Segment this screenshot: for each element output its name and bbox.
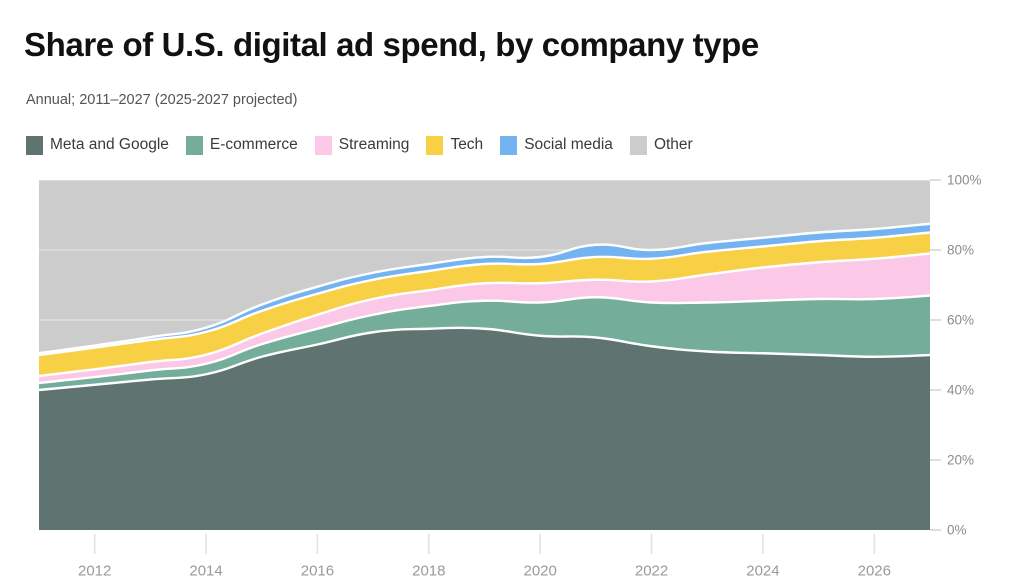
x-tick-label: 2020 (524, 562, 557, 576)
x-tick-label: 2012 (78, 562, 111, 576)
x-tick-label: 2016 (301, 562, 334, 576)
y-tick-label: 80% (947, 243, 974, 258)
x-tick-label: 2014 (189, 562, 222, 576)
x-tick-label: 2024 (746, 562, 779, 576)
x-tick-label: 2018 (412, 562, 445, 576)
plot-area: 0%20%40%60%80%100%2012201420162018202020… (0, 0, 1024, 576)
y-tick-label: 0% (947, 523, 967, 538)
stacked-area-chart: 0%20%40%60%80%100%2012201420162018202020… (0, 0, 1024, 576)
x-tick-label: 2026 (858, 562, 891, 576)
y-tick-label: 100% (947, 173, 982, 188)
x-tick-label: 2022 (635, 562, 668, 576)
chart-page: Share of U.S. digital ad spend, by compa… (0, 0, 1024, 576)
y-tick-label: 40% (947, 383, 974, 398)
y-tick-label: 60% (947, 313, 974, 328)
y-tick-label: 20% (947, 453, 974, 468)
